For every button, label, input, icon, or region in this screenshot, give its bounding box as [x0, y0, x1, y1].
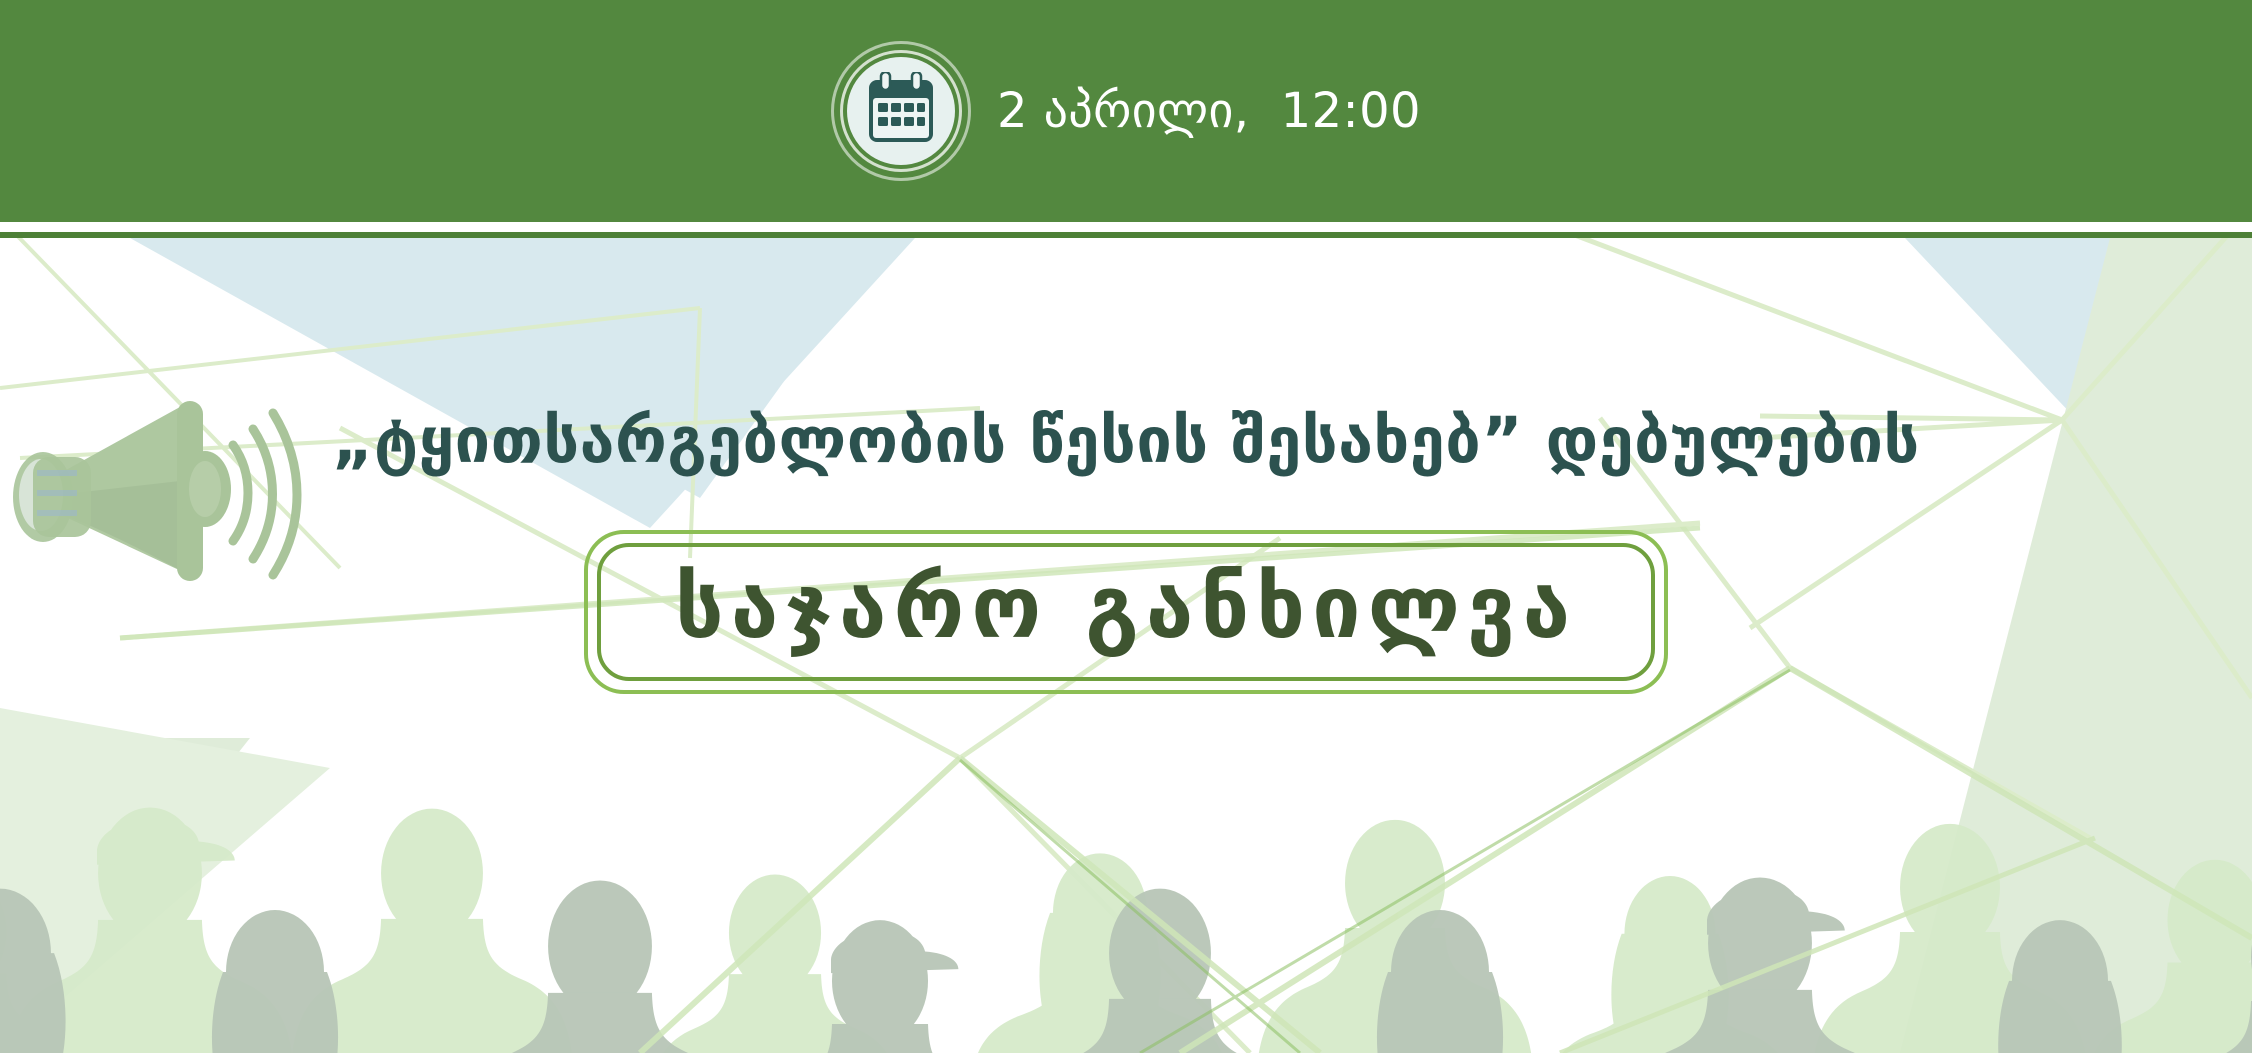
badge-label: საჯარო განხილვა [675, 565, 1577, 651]
poster-canvas: 2 აპრილი, 12:00 „ტყითსარგებლობის წესის შ… [0, 0, 2252, 1053]
calendar-icon [831, 41, 971, 181]
badge-inner-border: საჯარო განხილვა [597, 543, 1655, 681]
header-rule [0, 232, 2252, 238]
page-title: „ტყითსარგებლობის წესის შესახებ” დებულები… [0, 408, 2252, 474]
crowd-silhouette [0, 723, 2252, 1053]
poster-content: „ტყითსარგებლობის წესის შესახებ” დებულები… [0, 238, 2252, 694]
badge-wrapper: საჯარო განხილვა [0, 530, 2252, 694]
badge-outer-border: საჯარო განხილვა [584, 530, 1668, 694]
date-strip: 2 აპრილი, 12:00 [0, 0, 2252, 222]
calendar-glyph [864, 72, 938, 150]
date-text: 2 აპრილი, 12:00 [997, 87, 1421, 135]
